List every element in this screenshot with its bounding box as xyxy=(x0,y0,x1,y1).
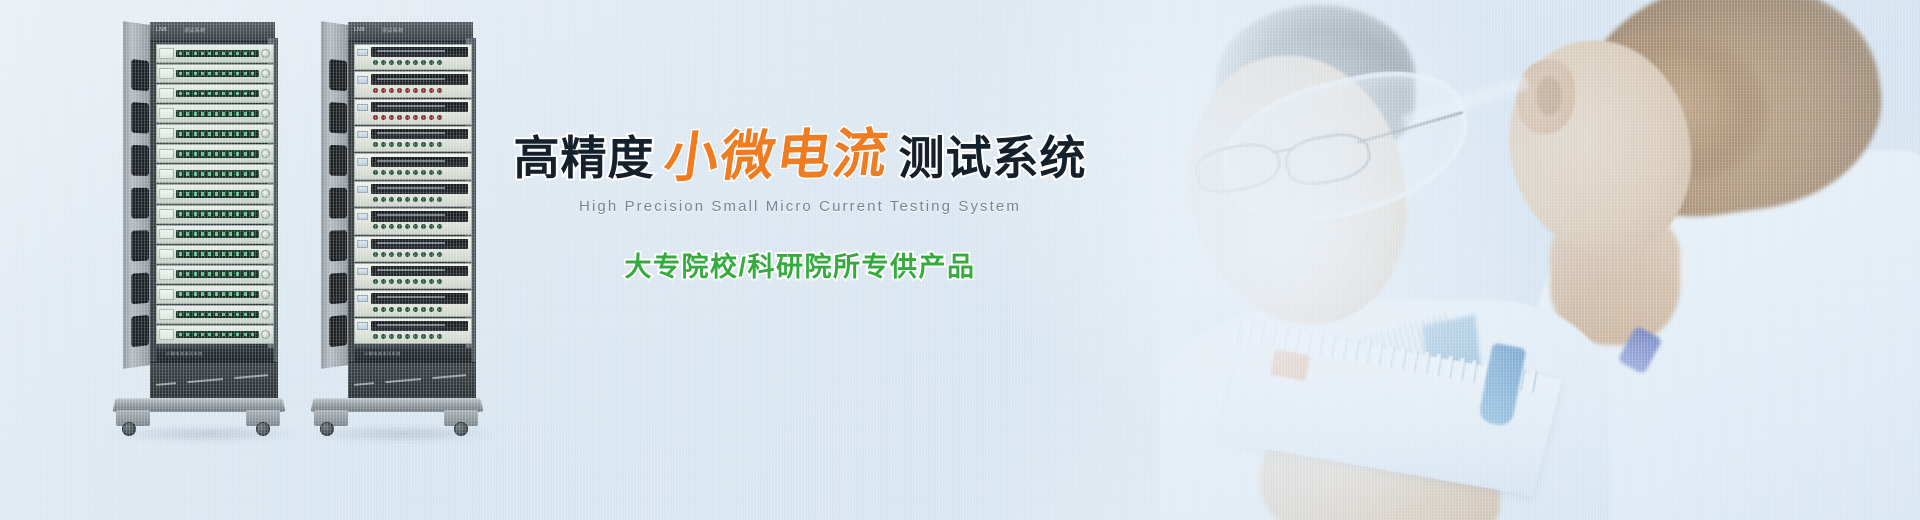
instrument-rack-2: LNB 测试系统 小微电流测试系统 xyxy=(318,22,493,422)
module-knob xyxy=(261,330,270,339)
module-display xyxy=(159,189,174,200)
module-knob xyxy=(261,69,270,78)
module-display xyxy=(371,321,468,331)
module-knob xyxy=(261,49,270,58)
rack-2-module xyxy=(354,99,472,125)
rack-2-module xyxy=(354,263,472,289)
module-connector-strip xyxy=(176,50,259,58)
rack-1-module xyxy=(156,144,274,163)
module-connector-strip xyxy=(176,90,259,98)
module-display xyxy=(371,293,468,303)
rack-2-module xyxy=(354,236,472,262)
module-indicator-panel xyxy=(357,158,368,165)
module-port-row xyxy=(357,86,469,95)
module-port-row xyxy=(357,250,469,259)
module-indicator-panel xyxy=(357,131,368,138)
module-display xyxy=(159,229,174,240)
rack-2-module xyxy=(354,71,472,97)
headline-trail: 测试系统 xyxy=(899,135,1087,181)
module-knob xyxy=(261,89,270,98)
module-display xyxy=(159,269,174,280)
module-knob xyxy=(261,129,270,138)
module-knob xyxy=(261,270,270,279)
product-banner: LNB 测试系统 小微电流测试系统 LNB 测试系统 xyxy=(0,0,1920,520)
rack-2-module xyxy=(354,153,472,179)
rack-1-model-label: 测试系统 xyxy=(184,27,206,34)
rack-1-module-stack xyxy=(156,44,274,344)
module-connector-strip xyxy=(176,270,259,278)
module-knob xyxy=(261,210,270,219)
module-display xyxy=(159,169,174,180)
rack-1-module xyxy=(156,164,274,183)
module-port-row xyxy=(357,195,469,204)
rack-2-module xyxy=(354,44,472,70)
module-display xyxy=(371,102,468,112)
rack-1-top-cap: LNB 测试系统 xyxy=(150,22,275,42)
module-indicator-panel xyxy=(357,76,368,83)
module-port-row xyxy=(357,332,469,341)
banner-subline-english: High Precision Small Micro Current Testi… xyxy=(520,198,1080,215)
module-connector-strip xyxy=(176,190,259,198)
banner-headline: 高精度 小微电流 测试系统 xyxy=(520,128,1080,182)
module-display xyxy=(159,88,174,99)
rack-1-module xyxy=(156,124,274,143)
rack-2-vent-panel: 小微电流测试系统 xyxy=(354,348,472,362)
rack-1-module xyxy=(156,285,274,304)
module-display xyxy=(159,149,174,160)
module-connector-strip xyxy=(176,291,259,299)
rack-1-vent-panel: 小微电流测试系统 xyxy=(156,348,274,362)
rack-2-top-cap: LNB 测试系统 xyxy=(348,22,473,42)
module-display xyxy=(371,184,468,194)
module-indicator-panel xyxy=(357,49,368,56)
module-connector-strip xyxy=(176,311,259,319)
module-display xyxy=(159,68,174,79)
rack-1-brand-label: LNB xyxy=(156,27,167,33)
module-display xyxy=(159,289,174,300)
module-knob xyxy=(261,109,270,118)
rack-2-module xyxy=(354,181,472,207)
instrument-rack-1: LNB 测试系统 小微电流测试系统 xyxy=(120,22,295,422)
rack-2-module xyxy=(354,290,472,316)
module-display xyxy=(159,329,174,340)
module-port-row xyxy=(357,223,469,232)
module-port-row xyxy=(357,58,469,67)
rack-1-module xyxy=(156,184,274,203)
module-display xyxy=(371,266,468,276)
rack-1-vent-label: 小微电流测试系统 xyxy=(166,351,203,357)
module-connector-strip xyxy=(176,210,259,218)
module-connector-strip xyxy=(176,70,259,78)
rack-1-module xyxy=(156,84,274,103)
module-port-row xyxy=(357,113,469,122)
module-connector-strip xyxy=(176,331,259,339)
module-display xyxy=(159,309,174,320)
module-connector-strip xyxy=(176,130,259,138)
module-knob xyxy=(261,149,270,158)
module-indicator-panel xyxy=(357,213,368,220)
rack-1-shadow xyxy=(110,426,300,442)
module-indicator-panel xyxy=(357,104,368,111)
rack-1-module xyxy=(156,64,274,83)
module-display xyxy=(371,74,468,84)
rack-2-module-stack xyxy=(354,44,472,344)
lab-scientists-photo xyxy=(1160,0,1920,520)
rack-1-lower-box xyxy=(150,362,278,398)
module-display xyxy=(159,249,174,260)
module-connector-strip xyxy=(176,250,259,258)
module-display xyxy=(371,211,468,221)
rack-2-model-label: 测试系统 xyxy=(382,27,404,34)
module-connector-strip xyxy=(176,150,259,158)
module-display xyxy=(159,209,174,220)
rack-2-brand-label: LNB xyxy=(354,27,365,33)
module-display xyxy=(371,239,468,249)
rack-2-module xyxy=(354,208,472,234)
module-display xyxy=(159,128,174,139)
rack-2-module xyxy=(354,126,472,152)
module-indicator-panel xyxy=(357,268,368,275)
rack-2-shadow xyxy=(308,426,498,442)
headline-lead: 高精度 xyxy=(514,135,655,181)
rack-1-module xyxy=(156,104,274,123)
photo-left-fade-overlay xyxy=(1160,0,1920,520)
rack-1-module xyxy=(156,245,274,264)
module-display xyxy=(159,48,174,59)
module-connector-strip xyxy=(176,110,259,118)
rack-1-module xyxy=(156,225,274,244)
module-port-row xyxy=(357,168,469,177)
module-knob xyxy=(261,189,270,198)
rack-1-module xyxy=(156,265,274,284)
module-knob xyxy=(261,230,270,239)
module-display xyxy=(371,157,468,167)
module-connector-strip xyxy=(176,230,259,238)
banner-tagline: 大专院校/科研院所专供产品 xyxy=(520,245,1080,284)
module-display xyxy=(371,47,468,57)
rack-1-module xyxy=(156,325,274,344)
module-indicator-panel xyxy=(357,186,368,193)
module-port-row xyxy=(357,277,469,286)
module-connector-strip xyxy=(176,170,259,178)
module-knob xyxy=(261,310,270,319)
headline-emphasis: 小微电流 xyxy=(660,126,892,185)
module-port-row xyxy=(357,305,469,314)
rack-1-module xyxy=(156,305,274,324)
rack-2-vent-label: 小微电流测试系统 xyxy=(364,351,401,357)
module-indicator-panel xyxy=(357,322,368,329)
rack-1-module xyxy=(156,44,274,63)
banner-text-block: 高精度 小微电流 测试系统 High Precision Small Micro… xyxy=(520,128,1080,284)
rack-2-lower-box xyxy=(348,362,476,398)
module-knob xyxy=(261,250,270,259)
rack-1-module xyxy=(156,205,274,224)
module-display xyxy=(159,108,174,119)
rack-2-module xyxy=(354,318,472,344)
module-display xyxy=(371,129,468,139)
module-indicator-panel xyxy=(357,240,368,247)
module-knob xyxy=(261,290,270,299)
module-indicator-panel xyxy=(357,295,368,302)
module-port-row xyxy=(357,140,469,149)
module-knob xyxy=(261,169,270,178)
